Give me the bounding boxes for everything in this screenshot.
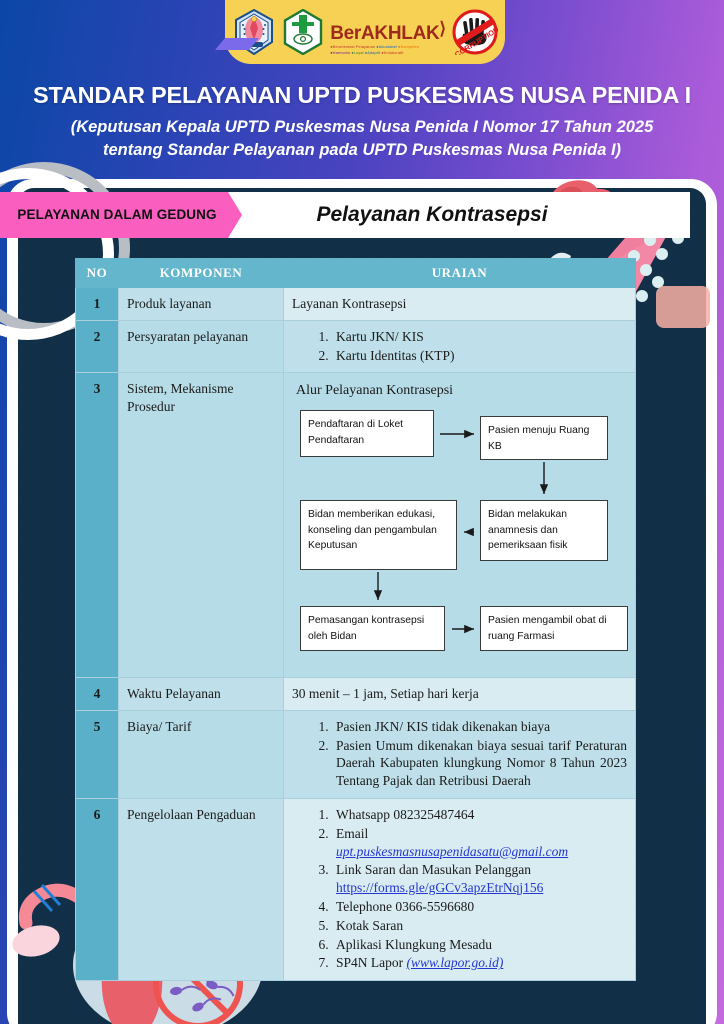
category-tab[interactable]: PELAYANAN DALAM GEDUNG (0, 192, 242, 238)
row-komponen: Biaya/ Tarif (119, 710, 284, 798)
list-item-label: SP4N Lapor (336, 955, 403, 970)
row-number: 2 (76, 320, 119, 373)
service-title: Pelayanan Kontrasepsi (232, 192, 632, 238)
flow-box-6: Pasien mengambil obat di ruang Farmasi (480, 606, 628, 651)
row-number: 3 (76, 373, 119, 677)
col-header-uraian: URAIAN (284, 259, 636, 288)
standar-pelayanan-table-wrap: NO KOMPONEN URAIAN 1 Produk layanan Laya… (75, 258, 635, 981)
feedback-form-link[interactable]: https://forms.gle/gGCv3apzEtrNqj156 (336, 880, 543, 895)
row-uraian: 30 menit – 1 jam, Setiap hari kerja (284, 677, 636, 710)
flow-box-4: Bidan memberikan edukasi, konseling dan … (300, 500, 457, 570)
poster-subtitle: (Keputusan Kepala UPTD Puskesmas Nusa Pe… (42, 116, 682, 163)
logo-badge: BerAKHLAK⟩ ●Berorientasi Pelayanan ●Akun… (225, 0, 505, 64)
row-uraian-flowchart: Alur Pelayanan Kontrasepsi (284, 373, 636, 677)
row-number: 1 (76, 288, 119, 321)
row-number: 6 (76, 798, 119, 980)
table-row: 1 Produk layanan Layanan Kontrasepsi (76, 288, 636, 321)
list-item: Pasien JKN/ KIS tidak dikenakan biaya (332, 718, 627, 736)
list-item: Aplikasi Klungkung Mesadu (332, 936, 627, 954)
list-item: Telephone 0366-5596680 (332, 898, 627, 916)
poster-root: BerAKHLAK⟩ ●Berorientasi Pelayanan ●Akun… (0, 0, 724, 1024)
list-item: SP4N Lapor (www.lapor.go.id) (332, 954, 627, 972)
col-header-no: NO (76, 259, 119, 288)
list-item: Kotak Saran (332, 917, 627, 935)
row-komponen: Pengelolaan Pengaduan (119, 798, 284, 980)
email-link[interactable]: upt.puskesmasnusapenidasatu@gmail.com (336, 844, 568, 859)
list-item: Kartu Identitas (KTP) (332, 347, 627, 365)
list-item-label: Link Saran dan Masukan Pelanggan (336, 862, 531, 877)
berakhlak-values-line-2: ●Harmonis ●Loyal ●Adaptif ●Kolaboratif (330, 51, 446, 55)
row-uraian-pengaduan: Whatsapp 082325487464 Email upt.puskesma… (284, 798, 636, 980)
category-tab-label: PELAYANAN DALAM GEDUNG (11, 207, 216, 223)
row-uraian: Layanan Kontrasepsi (284, 288, 636, 321)
berakhlak-text: BerAKHLAK (330, 23, 439, 44)
list-item-label: Email (336, 826, 368, 841)
flow-box-1: Pendaftaran di Loket Pendaftaran (300, 410, 434, 457)
row-number: 5 (76, 710, 119, 798)
table-row: 3 Sistem, Mekanisme Prosedur Alur Pelaya… (76, 373, 636, 677)
banner-row: PELAYANAN DALAM GEDUNG Pelayanan Kontras… (0, 192, 724, 238)
lapor-link[interactable]: (www.lapor.go.id) (407, 955, 504, 970)
table-row: 6 Pengelolaan Pengaduan Whatsapp 0823254… (76, 798, 636, 980)
row-uraian: Pasien JKN/ KIS tidak dikenakan biaya Pa… (284, 710, 636, 798)
flow-box-3: Bidan melakukan anamnesis dan pemeriksaa… (480, 500, 608, 561)
standar-pelayanan-table: NO KOMPONEN URAIAN 1 Produk layanan Laya… (75, 258, 636, 981)
poster-main-title: STANDAR PELAYANAN UPTD PUSKESMAS NUSA PE… (0, 82, 724, 109)
list-item: Kartu JKN/ KIS (332, 328, 627, 346)
berakhlak-values-line-1: ●Berorientasi Pelayanan ●Akuntabel ●Komp… (330, 45, 446, 49)
flow-box-2: Pasien menuju Ruang KB (480, 416, 608, 460)
anti-corruption-logo-icon: CORRUPTION (452, 9, 498, 55)
row-komponen: Persyaratan pelayanan (119, 320, 284, 373)
col-header-komponen: KOMPONEN (119, 259, 284, 288)
row-number: 4 (76, 677, 119, 710)
puskesmas-hexagon-logo-icon (282, 9, 324, 55)
row-komponen: Waktu Pelayanan (119, 677, 284, 710)
table-row: 2 Persyaratan pelayanan Kartu JKN/ KIS K… (76, 320, 636, 373)
list-item: Whatsapp 082325487464 (332, 806, 627, 824)
row-komponen: Produk layanan (119, 288, 284, 321)
list-item: Link Saran dan Masukan Pelanggan https:/… (332, 861, 627, 897)
flowchart-title: Alur Pelayanan Kontrasepsi (296, 382, 627, 400)
berakhlak-wordmark: BerAKHLAK⟩ ●Berorientasi Pelayanan ●Akun… (330, 24, 446, 55)
row-komponen: Sistem, Mekanisme Prosedur (119, 373, 284, 677)
table-row: 4 Waktu Pelayanan 30 menit – 1 jam, Seti… (76, 677, 636, 710)
flow-box-5: Pemasangan kontrasepsi oleh Bidan (300, 606, 445, 651)
list-item: Email upt.puskesmasnusapenidasatu@gmail.… (332, 825, 627, 861)
table-header-row: NO KOMPONEN URAIAN (76, 259, 636, 288)
flowchart: Pendaftaran di Loket Pendaftaran Pasien … (294, 410, 630, 668)
row-uraian: Kartu JKN/ KIS Kartu Identitas (KTP) (284, 320, 636, 373)
list-item: Pasien Umum dikenakan biaya sesuai tarif… (332, 737, 627, 790)
table-row: 5 Biaya/ Tarif Pasien JKN/ KIS tidak dik… (76, 710, 636, 798)
